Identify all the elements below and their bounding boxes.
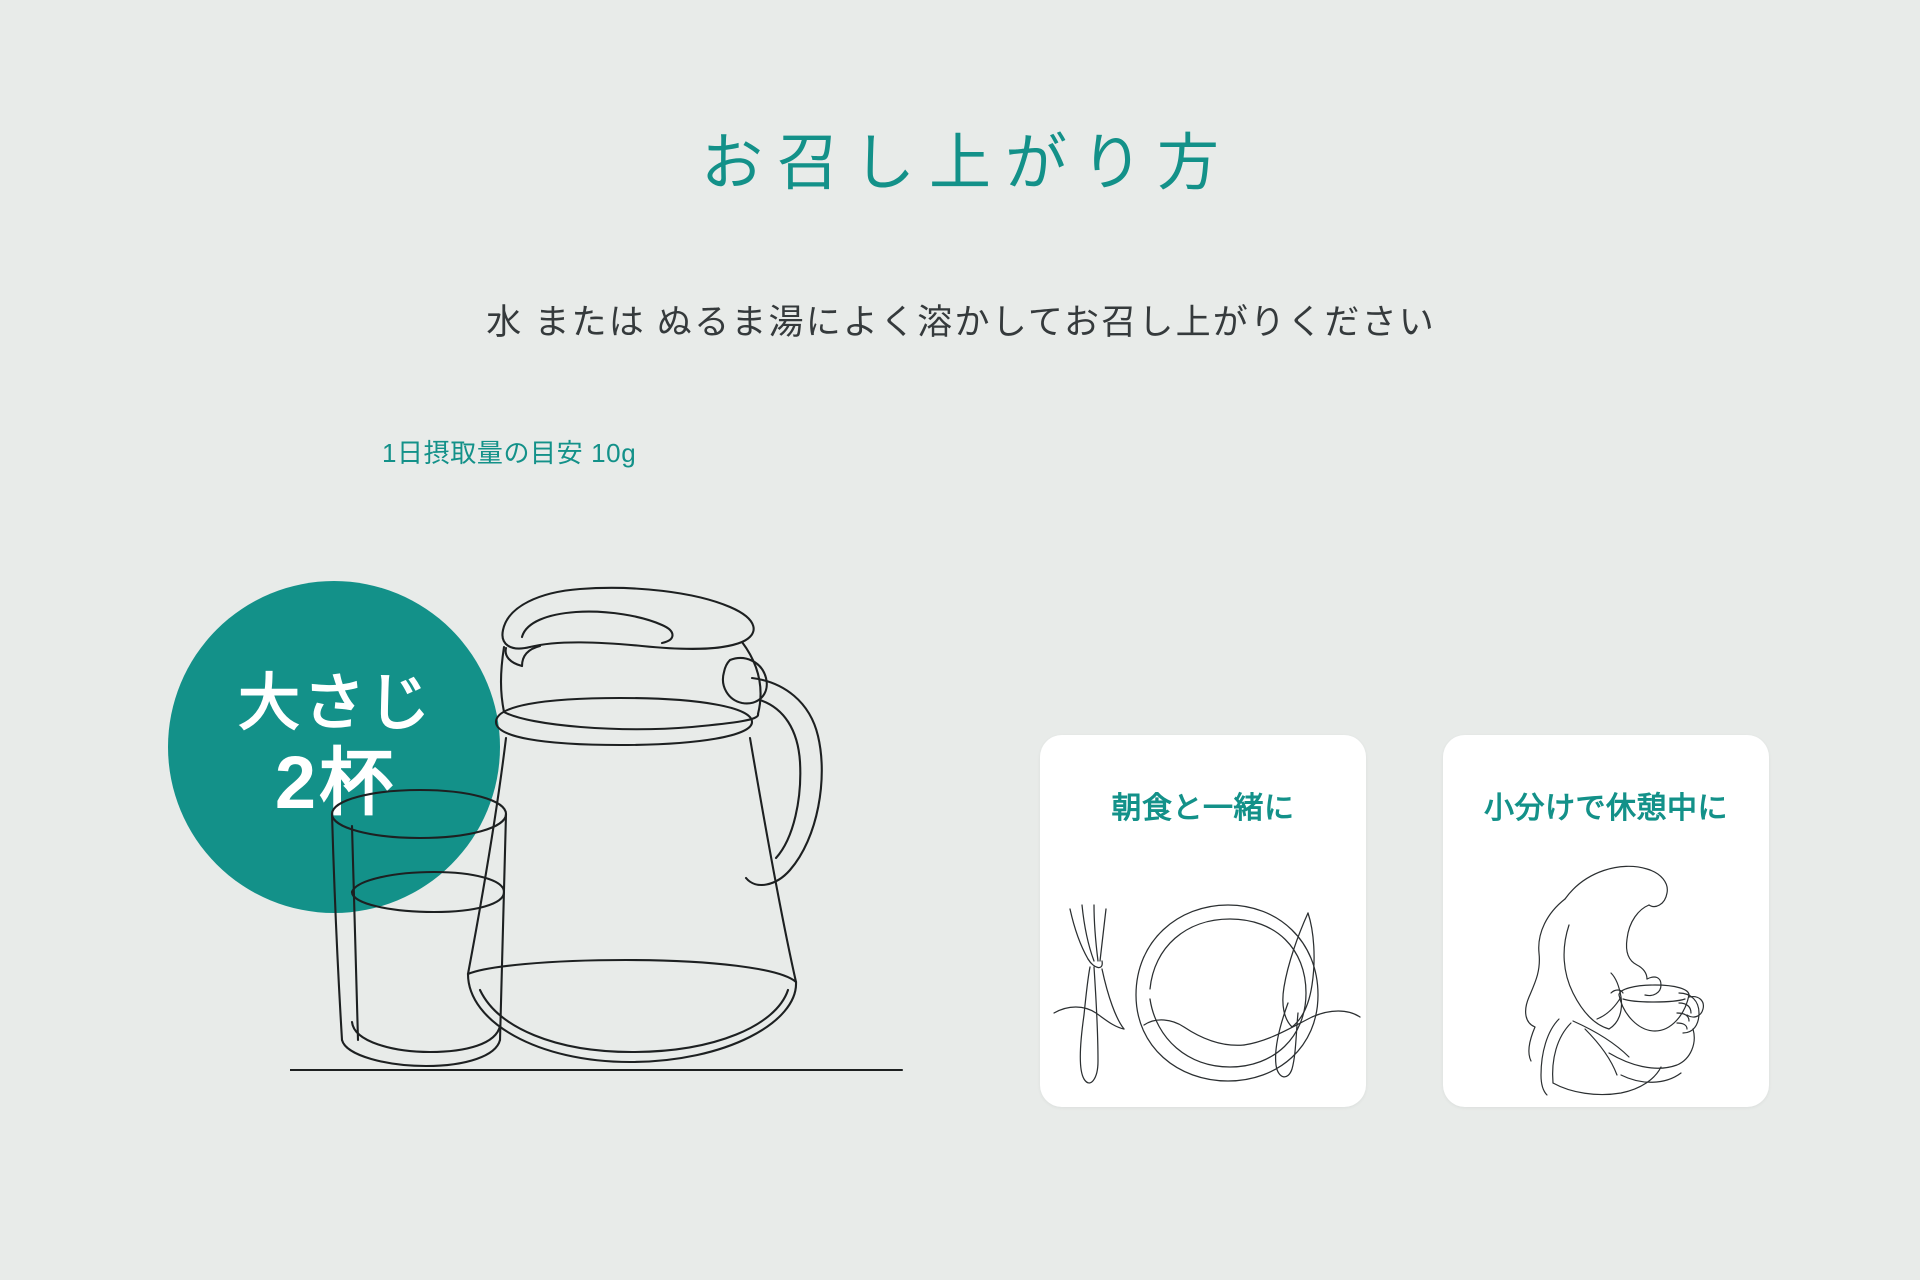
page-subtitle: 水 または ぬるま湯によく溶かしてお召し上がりください — [0, 300, 1920, 346]
usage-card-break-time[interactable]: 小分けで休憩中に — [1443, 735, 1769, 1107]
usage-card-breakfast-title: 朝食と一緒に — [1040, 783, 1366, 827]
usage-instructions-page: お召し上がり方 水 または ぬるま湯によく溶かしてお召し上がりください 1日摂取… — [0, 0, 1920, 1280]
fork-plate-knife-icon — [1040, 847, 1366, 1097]
daily-dosage-note: 1日摂取量の目安 10g — [382, 437, 636, 471]
woman-drinking-cup-icon — [1443, 847, 1769, 1097]
page-title: お召し上がり方 — [0, 130, 1920, 199]
usage-card-breakfast[interactable]: 朝食と一緒に — [1040, 735, 1366, 1107]
pitcher-and-glass-illustration — [290, 570, 970, 1110]
usage-card-break-time-title: 小分けで休憩中に — [1443, 783, 1769, 827]
